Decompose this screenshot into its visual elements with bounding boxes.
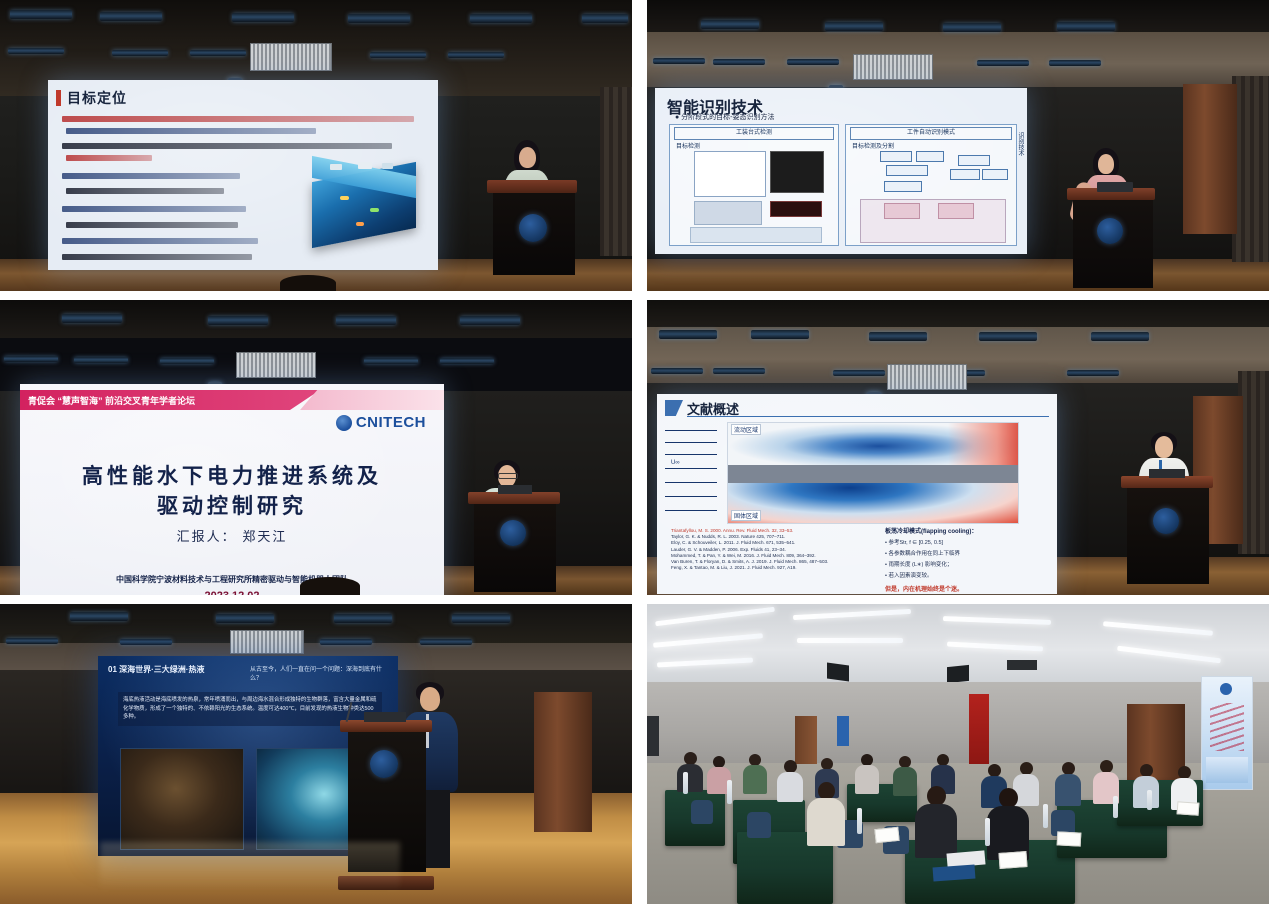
floor-reflection bbox=[100, 842, 400, 892]
banner-graphic bbox=[1206, 757, 1248, 783]
projection-screen: 目标定位 bbox=[48, 80, 438, 270]
ceiling-vent bbox=[887, 364, 967, 390]
attendee bbox=[1133, 764, 1159, 808]
ceiling-light bbox=[6, 638, 58, 644]
ceiling-light-strip bbox=[797, 638, 903, 643]
water-bottle bbox=[1113, 796, 1118, 818]
slide-bullet-line bbox=[66, 222, 238, 228]
slide-date: 2023.12.02 bbox=[20, 590, 444, 595]
photo-collage: 目标定位 bbox=[0, 0, 1269, 904]
ceiling-light bbox=[320, 639, 372, 645]
slide-subtitle: 从古至今，人们一直在问一个问题：深海到底有什么？ bbox=[250, 664, 392, 682]
side-door[interactable] bbox=[534, 692, 592, 832]
ceiling-light bbox=[1067, 370, 1119, 376]
water-bottle bbox=[727, 780, 732, 804]
back-door[interactable] bbox=[795, 716, 817, 764]
water-bottle bbox=[1147, 790, 1152, 810]
slide-column-left: 工装台式检测 目标检测 bbox=[669, 124, 839, 246]
slide-bullet-line bbox=[62, 206, 246, 212]
ceiling-speaker bbox=[947, 665, 969, 683]
ceiling-light bbox=[100, 12, 162, 21]
slide-banner: 青促会 “慧声智海” 前沿交叉青年学者论坛 bbox=[20, 390, 320, 410]
ceiling-light bbox=[420, 639, 472, 645]
slide-bullet-line bbox=[62, 116, 414, 122]
projection-screen: 青促会 “慧声智海” 前沿交叉青年学者论坛 CNITECH 高性能水下电力推进系… bbox=[20, 384, 444, 595]
slide-bullet-line bbox=[62, 254, 252, 260]
chair[interactable] bbox=[747, 812, 771, 838]
slide-main-title-line1: 高性能水下电力推进系统及 bbox=[20, 460, 444, 490]
ceiling-light bbox=[232, 13, 294, 22]
cnitech-logo-mark bbox=[336, 415, 352, 431]
ceiling-light bbox=[1049, 60, 1101, 66]
ceiling-vent bbox=[250, 43, 332, 71]
ceiling-light bbox=[160, 358, 214, 364]
wall-curtain bbox=[600, 87, 632, 256]
reference-list: Triantafyllou, M. S. 2000. Annu. Rev. Fl… bbox=[671, 528, 867, 571]
water-bottle bbox=[985, 818, 990, 846]
banner-logo bbox=[1220, 683, 1232, 695]
ceiling-light bbox=[70, 612, 128, 621]
attendee bbox=[677, 752, 703, 792]
slide-title: 目标定位 bbox=[67, 88, 127, 108]
lectern bbox=[1121, 476, 1213, 584]
column-subhead: 目标检测及分割 bbox=[852, 141, 894, 150]
ceiling-light bbox=[1091, 332, 1149, 341]
presenter-name: 郑天江 bbox=[242, 529, 287, 544]
ceiling-projector-mount bbox=[1007, 660, 1037, 670]
name-card bbox=[874, 827, 899, 843]
inflow-arrows: U∞ bbox=[665, 426, 723, 520]
ceiling-light bbox=[582, 14, 628, 23]
title-accent-bar bbox=[56, 90, 61, 106]
speaker-head bbox=[1155, 436, 1173, 458]
ceiling-light bbox=[659, 330, 717, 339]
right-note: 但是，内在机理始终是个迷。 bbox=[885, 584, 1049, 593]
attendee bbox=[855, 754, 879, 794]
ceiling-light bbox=[713, 59, 765, 65]
slide-banner-text: 青促会 “慧声智海” 前沿交叉青年学者论坛 bbox=[20, 394, 195, 407]
lectern bbox=[487, 180, 577, 275]
ceiling-light bbox=[62, 314, 122, 323]
right-heading: 板荡冷却模式(flapping cooling)： bbox=[885, 526, 1049, 535]
ceiling-light bbox=[653, 58, 705, 64]
back-screen bbox=[647, 716, 659, 756]
slide-bullet-line bbox=[66, 188, 224, 194]
lectern bbox=[1067, 188, 1155, 288]
hanging-red-banner bbox=[969, 694, 989, 764]
chair[interactable] bbox=[691, 800, 713, 824]
name-card bbox=[998, 851, 1027, 869]
title-accent-shape bbox=[665, 400, 683, 416]
photo-panel-2: 智能识别技术 ● 分阶段式的目标-姿态识别方法 工装台式检测 目标检测 工件自动… bbox=[647, 0, 1269, 291]
attendee bbox=[915, 786, 957, 858]
ceiling-light bbox=[348, 14, 410, 23]
ceiling-light bbox=[979, 332, 1037, 341]
ceiling-light bbox=[334, 614, 392, 623]
photo-panel-3: 青促会 “慧声智海” 前沿交叉青年学者论坛 CNITECH 高性能水下电力推进系… bbox=[0, 300, 632, 595]
ceiling-vent bbox=[236, 352, 316, 378]
banner-calligraphy bbox=[1210, 703, 1244, 751]
laptop bbox=[498, 485, 532, 494]
slide-bullet-line bbox=[62, 238, 258, 244]
speaker-head bbox=[420, 687, 440, 711]
figure-label-uinf: U∞ bbox=[671, 460, 680, 466]
slide-main-title-line2: 驱动控制研究 bbox=[20, 490, 444, 520]
ceiling-light bbox=[370, 52, 426, 58]
ceiling-light bbox=[751, 330, 809, 339]
ceiling-light bbox=[10, 10, 72, 19]
slide-column-right: 工件自动识别模式 目标检测及分割 bbox=[845, 124, 1017, 246]
ceiling-light bbox=[651, 368, 703, 374]
lectern bbox=[468, 492, 560, 592]
projection-screen: 文献概述 U∞ bbox=[657, 394, 1057, 594]
ceiling-vent bbox=[230, 630, 304, 654]
reference-item: Feng, X. & Tantao, M. & Liu, J. 2021. J.… bbox=[671, 565, 867, 571]
ceiling-light bbox=[208, 316, 268, 325]
water-bottle bbox=[857, 808, 862, 834]
attendee bbox=[807, 782, 845, 846]
ceiling-light bbox=[470, 14, 532, 23]
ceiling-light bbox=[825, 22, 883, 31]
photo-panel-5: 01 深海世界·三大绿洲·热液 从古至今，人们一直在问一个问题：深海到底有什么？… bbox=[0, 604, 632, 904]
water-bottle bbox=[1043, 804, 1048, 828]
ceiling-light bbox=[833, 370, 885, 376]
speaker-head bbox=[519, 147, 536, 168]
presenter-label: 汇报人： bbox=[177, 529, 237, 544]
banner-tail bbox=[300, 390, 444, 410]
speaker-glasses bbox=[498, 473, 518, 479]
column-subhead: 目标检测 bbox=[676, 141, 700, 150]
photo-panel-4: 文献概述 U∞ bbox=[647, 300, 1269, 595]
side-door[interactable] bbox=[1183, 84, 1237, 234]
lectern-emblem bbox=[1153, 508, 1179, 534]
column-header: 工装台式检测 bbox=[674, 127, 834, 140]
water-bottle bbox=[683, 772, 688, 794]
slide-right-block: 板荡冷却模式(flapping cooling)： • 参考Str, f ∈ [… bbox=[885, 526, 1049, 593]
ceiling-light bbox=[713, 368, 765, 374]
deep-sea-cube-figure bbox=[304, 162, 424, 254]
lectern-emblem bbox=[1097, 218, 1123, 244]
figure-label-solid: 固体区域 bbox=[731, 510, 761, 521]
ceiling-light bbox=[336, 316, 396, 325]
name-card bbox=[1057, 831, 1082, 846]
slide-side-label: 识别技术 bbox=[1016, 132, 1025, 156]
lectern-emblem bbox=[500, 520, 526, 546]
slide-bullet-line bbox=[62, 143, 392, 149]
slide-title: 01 深海世界·三大绿洲·热液 bbox=[108, 665, 204, 674]
cnitech-logo: CNITECH bbox=[336, 414, 426, 431]
ceiling-light bbox=[701, 20, 759, 29]
name-card bbox=[1177, 801, 1200, 816]
right-bullet: • 雨期长度 (L∗) 影响变化； bbox=[885, 560, 1049, 568]
attendee bbox=[1055, 762, 1081, 806]
attendee bbox=[777, 760, 803, 802]
ceiling-vent bbox=[853, 54, 933, 80]
ceiling-light bbox=[1057, 22, 1115, 31]
slide-image-left bbox=[120, 748, 244, 850]
attendee bbox=[893, 756, 917, 796]
photo-panel-1: 目标定位 bbox=[0, 0, 632, 291]
ceiling-light bbox=[120, 639, 172, 645]
slide-bullet: ● 分阶段式的目标-姿态识别方法 bbox=[675, 112, 775, 122]
laptop bbox=[364, 712, 406, 722]
ceiling-light bbox=[8, 48, 64, 54]
photo-panel-6: Wide view of the audience seated at gree… bbox=[647, 604, 1269, 904]
lectern-emblem bbox=[370, 750, 398, 778]
ceiling-light bbox=[787, 59, 839, 65]
ceiling-light bbox=[460, 316, 520, 325]
ceiling-light bbox=[190, 50, 246, 56]
right-bullet: • 参考Str, f ∈ [0.25, 0.5] bbox=[885, 538, 1049, 546]
attendee bbox=[743, 754, 767, 794]
laptop bbox=[1149, 469, 1185, 478]
ceiling-light bbox=[943, 23, 1001, 32]
cnitech-logo-text: CNITECH bbox=[356, 414, 426, 431]
laptop bbox=[1097, 182, 1133, 192]
lectern-emblem bbox=[519, 214, 547, 242]
ceiling-light bbox=[977, 60, 1029, 66]
column-header: 工件自动识别模式 bbox=[850, 127, 1012, 140]
ceiling-light bbox=[4, 356, 58, 362]
figure-label-fluid: 流动区域 bbox=[731, 424, 761, 435]
projection-screen: 智能识别技术 ● 分阶段式的目标-姿态识别方法 工装台式检测 目标检测 工件自动… bbox=[655, 88, 1027, 254]
rollup-banner bbox=[1201, 676, 1253, 790]
speaker-head bbox=[1098, 154, 1114, 174]
ceiling-light bbox=[364, 358, 418, 364]
ceiling-light bbox=[74, 357, 128, 363]
audience-head-silhouette bbox=[300, 577, 360, 595]
audience-head-silhouette bbox=[280, 275, 336, 291]
ceiling-light bbox=[448, 52, 504, 58]
slide-bullet-line bbox=[66, 128, 316, 134]
attendee bbox=[987, 788, 1029, 860]
cfd-contour-figure bbox=[727, 422, 1019, 524]
wall-curtain bbox=[1232, 76, 1269, 262]
ceiling-light bbox=[452, 614, 510, 623]
ceiling-light bbox=[112, 50, 168, 56]
right-bullet: • 各参数耦合作用在同上下临界 bbox=[885, 549, 1049, 557]
conference-folder bbox=[933, 865, 976, 882]
slide-affiliation: 中国科学院宁波材料技术与工程研究所精密驱动与智能机器人团队 bbox=[20, 574, 444, 585]
ceiling-light bbox=[869, 332, 927, 341]
blue-wall-banner bbox=[837, 716, 849, 746]
ceiling-light bbox=[440, 358, 494, 364]
slide-bullet-line bbox=[66, 155, 152, 161]
ceiling-light bbox=[216, 614, 274, 623]
ceiling-speaker bbox=[827, 662, 849, 681]
right-bullet: • 若入因素演变较。 bbox=[885, 571, 1049, 579]
slide-bullet-line bbox=[62, 173, 240, 179]
